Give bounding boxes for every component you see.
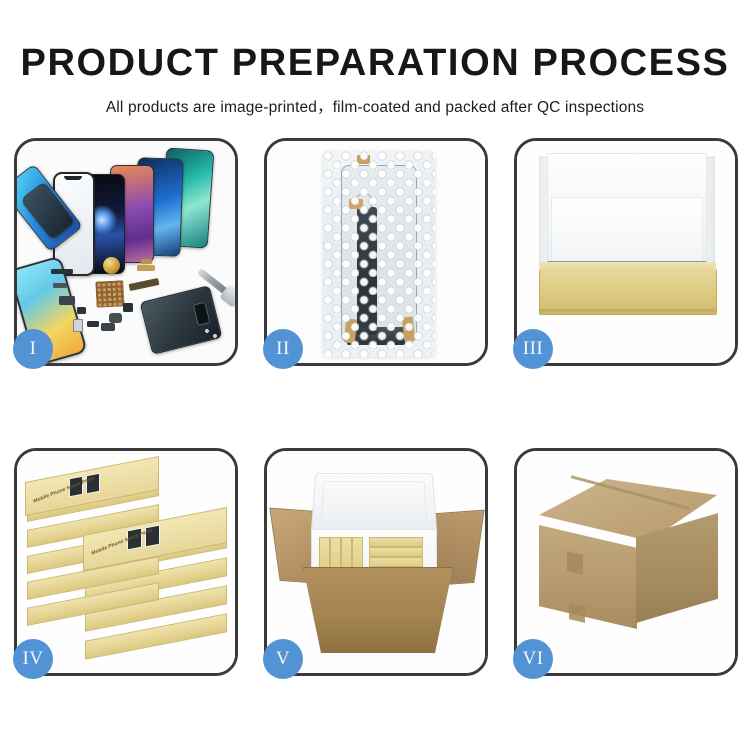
carton-tape-icon (569, 603, 585, 623)
step-badge-2: II (263, 329, 303, 369)
flex-cable-icon (129, 278, 160, 291)
step-3-image (517, 141, 735, 363)
box-stack: Mobile Phone Spare Parts Mobile Phone Sp… (23, 465, 231, 661)
page-subtitle: All products are image-printed，film-coat… (0, 95, 750, 117)
box-shadow (539, 309, 715, 315)
bubble-wrapped-package (323, 151, 435, 357)
screw-tray-icon (95, 280, 124, 307)
carton-packing-scene (267, 451, 485, 673)
process-step-grid: I II (14, 138, 738, 678)
phone-parts-scene (17, 141, 235, 363)
page-title: PRODUCT PREPARATION PROCESS (0, 44, 750, 84)
process-step-5: V (264, 448, 488, 676)
component-icon (77, 307, 86, 314)
step-5-image (267, 451, 485, 673)
sealed-carton-scene (517, 451, 735, 673)
step-badge-5: V (263, 639, 303, 679)
bubble-film-texture (323, 151, 435, 357)
cardboard-carton-icon (303, 567, 453, 653)
carton-tape-icon (567, 551, 583, 575)
product-preparation-infographic: PRODUCT PREPARATION PROCESS All products… (0, 0, 750, 750)
step-4-image: Mobile Phone Spare Parts Mobile Phone Sp… (17, 451, 235, 673)
stacked-boxes-scene: Mobile Phone Spare Parts Mobile Phone Sp… (17, 451, 235, 673)
bubble-wrap-scene (267, 141, 485, 363)
process-step-2: II (264, 138, 488, 366)
process-step-1: I (14, 138, 238, 366)
open-box-scene (517, 141, 735, 363)
component-icon (141, 259, 152, 264)
phone-back-housing-icon (140, 285, 223, 355)
component-icon (73, 319, 83, 332)
yellow-box-item (369, 557, 423, 567)
process-step-3: III (514, 138, 738, 366)
gold-coil-icon (103, 257, 120, 274)
step-badge-3: III (513, 329, 553, 369)
step-1-image (17, 141, 235, 363)
foam-sheet-front (551, 197, 703, 269)
screws-icon (203, 327, 219, 339)
process-step-6: VI (514, 448, 738, 676)
step-2-image (267, 141, 485, 363)
yellow-box-item (369, 537, 423, 547)
component-icon (137, 265, 155, 271)
component-icon (101, 323, 115, 331)
step-badge-4: IV (13, 639, 53, 679)
foam-lid-icon (311, 473, 438, 535)
component-icon (123, 303, 133, 312)
yellow-box-item (369, 547, 423, 557)
step-6-image (517, 451, 735, 673)
process-step-4: Mobile Phone Spare Parts Mobile Phone Sp… (14, 448, 238, 676)
component-icon (109, 313, 122, 323)
component-icon (53, 283, 67, 288)
component-icon (87, 321, 99, 327)
step-badge-1: I (13, 329, 53, 369)
header: PRODUCT PREPARATION PROCESS All products… (0, 0, 750, 117)
step-badge-6: VI (513, 639, 553, 679)
component-icon (59, 296, 75, 305)
component-icon (51, 269, 73, 274)
carton-left-face (539, 525, 637, 629)
